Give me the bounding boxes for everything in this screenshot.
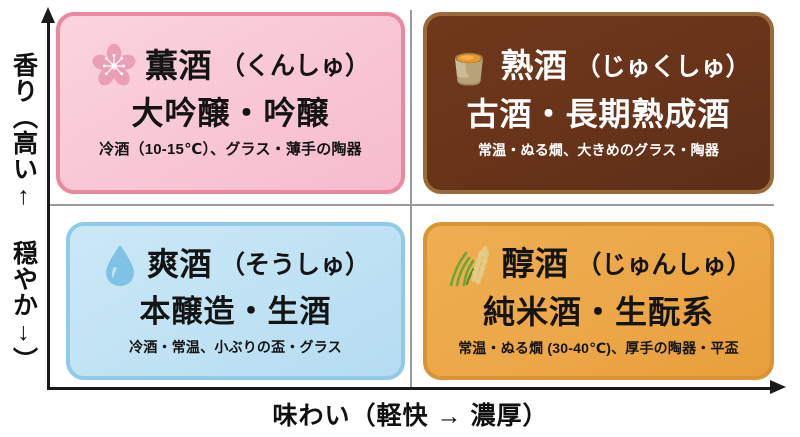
soshu-title: 爽酒 <box>147 248 212 282</box>
y-axis-label: 香り（高い↑ 穏やか↓） <box>3 52 43 372</box>
x-axis-label: 味わい（軽快 → 濃厚） <box>47 396 774 432</box>
cherry-blossom-icon <box>91 43 137 89</box>
y-axis-line <box>47 22 50 390</box>
soshu-detail: 冷酒・常温、小ぶりの盃・グラス <box>129 339 342 356</box>
kunshu-title-row: 薫酒 （くんしゅ） <box>91 43 370 89</box>
junshu-detail: 常温・ぬる燗 (30-40℃)、厚手の陶器・平盃 <box>458 340 739 357</box>
quadrant-card-junshu[interactable]: 醇酒 （じゅんしゅ） 純米酒・生酛系 常温・ぬる燗 (30-40℃)、厚手の陶器… <box>423 222 774 380</box>
soshu-kana: （そうしゅ） <box>220 252 370 278</box>
sake-taxonomy-chart: 香り（高い↑ 穏やか↓） 味わい（軽快 → 濃厚） <box>0 0 800 437</box>
quadrant-divider-horizontal <box>50 204 774 206</box>
rice-plant-icon <box>445 242 493 288</box>
kunshu-detail: 冷酒（10-15℃）、グラス・薄手の陶器 <box>99 141 362 159</box>
kunshu-title: 薫酒 <box>145 49 212 84</box>
jukushu-subtitle: 古酒・長期熟成酒 <box>466 96 730 133</box>
jukushu-kana: （じゅくしゅ） <box>575 54 750 80</box>
soshu-subtitle: 本醸造・生酒 <box>140 294 332 330</box>
x-axis-arrow-icon <box>770 380 786 394</box>
kunshu-kana: （くんしゅ） <box>220 53 370 79</box>
water-drop-icon <box>101 242 139 288</box>
quadrant-card-kunshu[interactable]: 薫酒 （くんしゅ） 大吟醸・吟醸 冷酒（10-15℃）、グラス・薄手の陶器 <box>56 12 405 194</box>
jukushu-title-row: 熟酒 （じゅくしゅ） <box>446 44 750 90</box>
soshu-title-row: 爽酒 （そうしゅ） <box>101 242 370 288</box>
kunshu-subtitle: 大吟醸・吟醸 <box>131 95 329 132</box>
jukushu-title: 熟酒 <box>500 49 567 84</box>
junshu-subtitle: 純米酒・生酛系 <box>483 294 714 331</box>
quadrant-card-jukushu[interactable]: 熟酒 （じゅくしゅ） 古酒・長期熟成酒 常温・ぬる燗、大きめのグラス・陶器 <box>423 12 774 194</box>
junshu-kana: （じゅんしゅ） <box>576 252 751 278</box>
junshu-title: 醇酒 <box>501 247 568 282</box>
y-axis-arrow-icon <box>41 7 55 23</box>
sake-cup-icon <box>446 44 492 90</box>
junshu-title-row: 醇酒 （じゅんしゅ） <box>445 242 751 288</box>
x-axis-line <box>47 387 774 390</box>
jukushu-detail: 常温・ぬる燗、大きめのグラス・陶器 <box>478 142 719 159</box>
quadrant-divider-vertical <box>410 10 412 387</box>
quadrant-card-soshu[interactable]: 爽酒 （そうしゅ） 本醸造・生酒 冷酒・常温、小ぶりの盃・グラス <box>66 222 405 380</box>
